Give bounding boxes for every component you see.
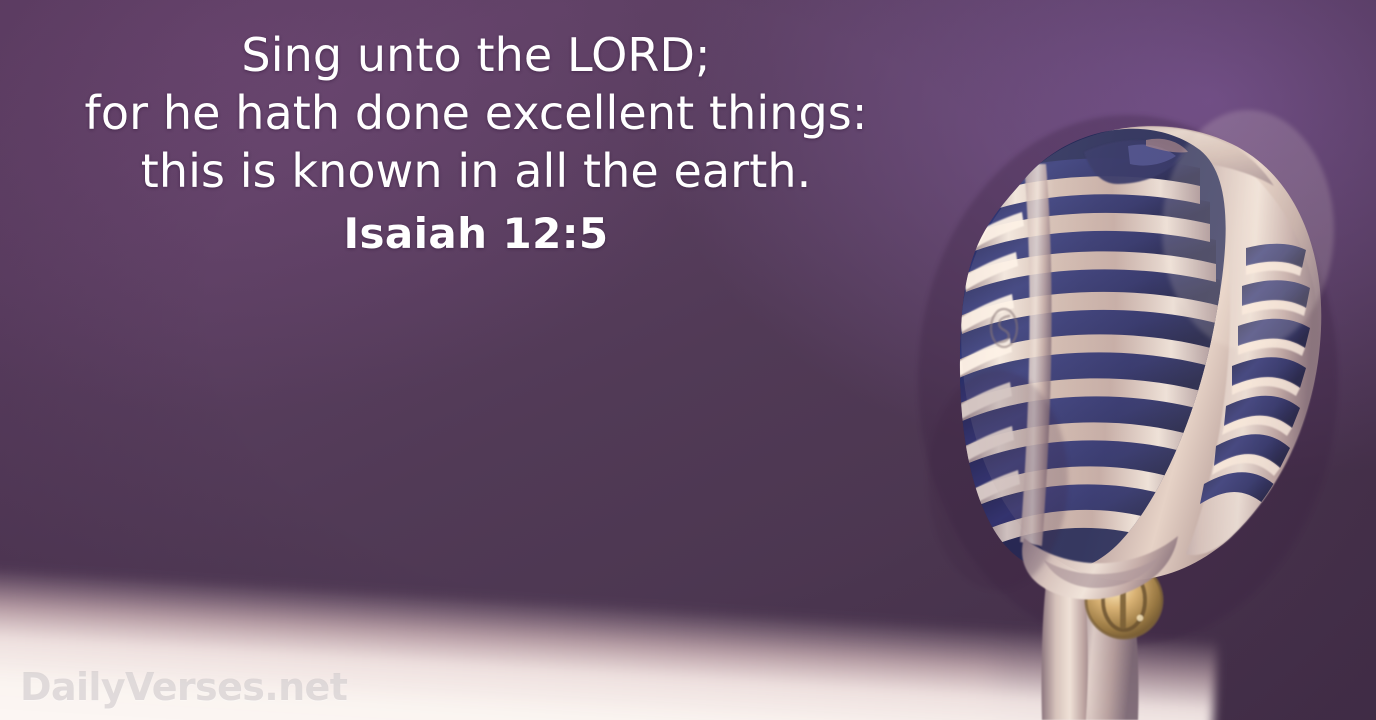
verse-line-2: for he hath done excellent things: <box>0 84 952 142</box>
verse-reference: Isaiah 12:5 <box>0 209 952 259</box>
verse-line-1: Sing unto the LORD; <box>0 26 952 84</box>
verse-image-canvas: Sing unto the LORD; for he hath done exc… <box>0 0 1376 720</box>
verse-text-block: Sing unto the LORD; for he hath done exc… <box>0 26 952 259</box>
verse-line-3: this is known in all the earth. <box>0 142 952 200</box>
site-watermark: DailyVerses.net <box>20 666 347 708</box>
